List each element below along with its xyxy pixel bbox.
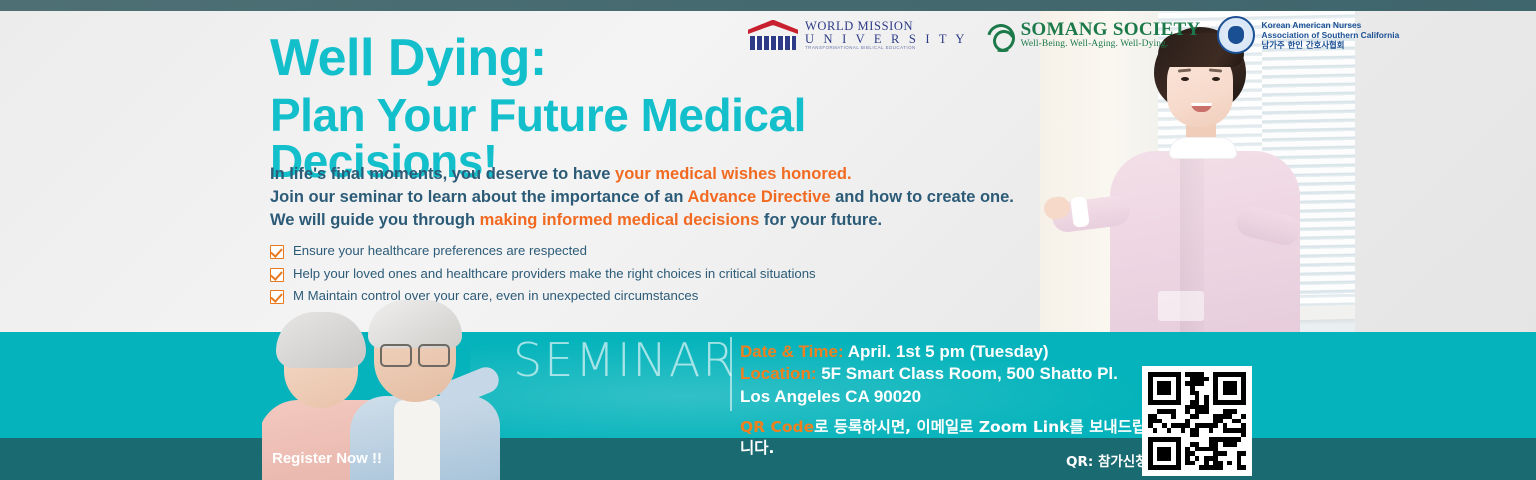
qr-caption: QR: 참가신청 — [1066, 450, 1148, 470]
eyeglasses-icon — [380, 344, 450, 363]
nurse-eye-left — [1181, 77, 1189, 81]
kana-line1: Korean American Nurses — [1262, 20, 1400, 30]
lead-2-highlight: Advance Directive — [687, 188, 830, 206]
lead-1-highlight: your medical wishes honored. — [615, 165, 852, 183]
kana-line3-korean: 남가주 한인 간호사협회 — [1262, 40, 1400, 50]
qr-code-matrix — [1148, 372, 1246, 470]
qr-code[interactable] — [1142, 366, 1252, 476]
nurse-eye-right — [1212, 77, 1220, 81]
checkmark-icon — [270, 245, 284, 259]
checklist-text: Ensure your healthcare preferences are r… — [293, 243, 587, 260]
title-line-1: Well Dying: — [270, 32, 1030, 84]
lead-2-plain: Join our seminar to learn about the impo… — [270, 188, 687, 206]
datetime-label: Date & Time: — [740, 342, 844, 361]
lead-3-plain-tail: for your future. — [759, 211, 882, 229]
logo-korean-american-nurses: Korean American Nurses Association of So… — [1217, 16, 1400, 54]
nurse-photo — [1040, 11, 1355, 332]
lead-2-plain-tail: and how to create one. — [831, 188, 1014, 206]
location-label: Location: — [740, 364, 817, 383]
lead-3-plain: We will guide you through — [270, 211, 480, 229]
seminar-heading: SEMINAR — [513, 333, 736, 387]
somang-tagline: Well-Being. Well-Aging. Well-Dying. — [1021, 40, 1201, 50]
detail-datetime: Date & Time: April. 1st 5 pm (Tuesday) — [740, 341, 1160, 363]
woman-hair — [276, 312, 366, 368]
nurse-collar — [1169, 137, 1237, 159]
seminar-banner: WORLD MISSION U N I V E R S I T Y TRANSF… — [0, 0, 1536, 480]
seminar-details: Date & Time: April. 1st 5 pm (Tuesday) L… — [740, 341, 1160, 458]
lead-line-2: Join our seminar to learn about the impo… — [270, 186, 1030, 209]
checkmark-icon — [270, 268, 284, 282]
list-item: Help your loved ones and healthcare prov… — [270, 266, 990, 283]
somang-name: SOMANG SOCIETY — [1021, 20, 1201, 40]
lead-paragraph: In life's final moments, you deserve to … — [270, 163, 1030, 231]
location-value: 5F Smart Class Room, 500 Shatto Pl. — [817, 364, 1118, 383]
lead-3-highlight: making informed medical decisions — [480, 211, 760, 229]
detail-location-line2: Los Angeles CA 90020 — [740, 386, 1160, 408]
top-accent-strip — [0, 0, 1536, 11]
lead-line-3: We will guide you through making informe… — [270, 209, 1030, 232]
nurse-seal-icon — [1217, 16, 1255, 54]
nurse-pocket — [1158, 291, 1204, 321]
page-title: Well Dying: Plan Your Future Medical Dec… — [270, 32, 1030, 184]
datetime-value: April. 1st 5 pm (Tuesday) — [844, 342, 1049, 361]
man-hair — [368, 300, 462, 348]
vertical-divider — [730, 337, 732, 411]
detail-location: Location: 5F Smart Class Room, 500 Shatt… — [740, 363, 1160, 385]
kana-line2: Association of Southern California — [1262, 30, 1400, 40]
lead-line-1: In life's final moments, you deserve to … — [270, 163, 1030, 186]
man-shirt — [394, 400, 440, 480]
lead-1-plain: In life's final moments, you deserve to … — [270, 165, 615, 183]
list-item: Ensure your healthcare preferences are r… — [270, 243, 990, 260]
wmu-line1: WORLD MISSION — [805, 20, 968, 33]
register-now-text[interactable]: Register Now !! — [272, 450, 382, 467]
checklist-text: Help your loved ones and healthcare prov… — [293, 266, 816, 283]
qr-code-label: QR Code — [740, 418, 814, 436]
